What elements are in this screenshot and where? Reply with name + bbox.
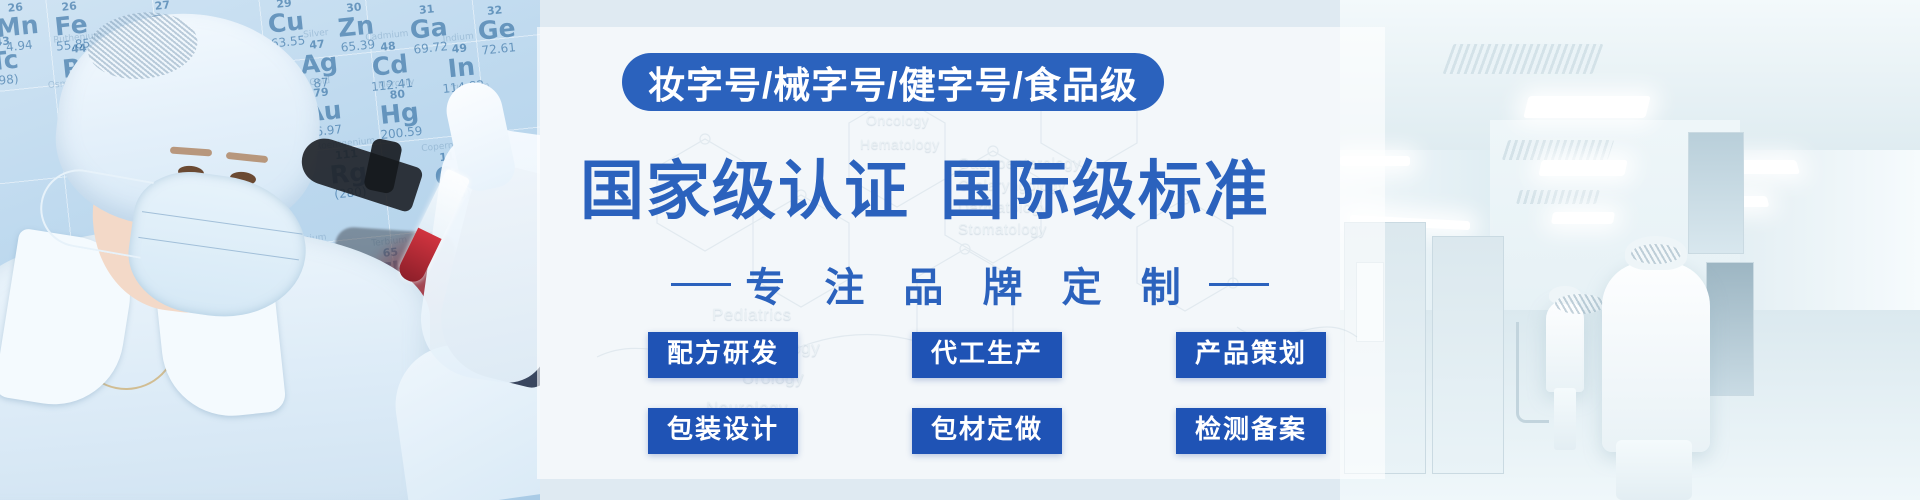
element-weight: (98) [0,72,21,88]
subtitle-text: 专 注 品 牌 定 制 [745,255,1195,313]
periodic-element-cell: 32Ge72.61 [475,3,518,57]
periodic-element-cell: Mercury80Hg200.59 [375,78,423,142]
service-button[interactable]: 配方研发 [648,332,798,378]
ceiling-vent-2 [1502,140,1614,160]
service-button-row-1: 配方研发代工生产产品策划 [648,332,1326,378]
service-button[interactable]: 包装设计 [648,408,798,454]
service-button[interactable]: 代工生产 [912,332,1062,378]
service-button-row-2: 包装设计包材定做检测备案 [648,408,1326,454]
worker-far [1546,300,1584,392]
ceiling-light-2 [1538,160,1627,176]
door-back [1706,262,1754,396]
ceiling-vent-3 [1516,190,1600,204]
left-photo-lab-scientist: 26Mn4.9426Fe55.8527Co29Cu63.5530Zn65.393… [0,0,540,500]
door-left-2 [1432,236,1504,474]
headline-left: 国家级认证 [580,155,910,227]
headline-right: 国际级标准 [940,155,1270,227]
window-back [1688,132,1744,254]
service-button[interactable]: 包材定做 [912,408,1062,454]
ceiling-light-3 [1551,212,1615,224]
worker-near [1602,262,1710,452]
worker-near-legs [1616,440,1692,500]
decorative-dash-left [671,283,731,286]
subtitle-row: 专 注 品 牌 定 制 [645,256,1295,312]
right-photo-cleanroom [1340,0,1920,500]
worker-far-cap [1549,286,1581,304]
service-button[interactable]: 检测备案 [1176,408,1326,454]
decorative-dash-right [1209,283,1269,286]
pallet-jack [1516,322,1549,423]
certification-badge: 妆字号/械字号/健字号/食品级 [622,53,1164,111]
promo-banner: 26Mn4.9426Fe55.8527Co29Cu63.5530Zn65.393… [0,0,1920,500]
service-button[interactable]: 产品策划 [1176,332,1326,378]
ceiling-vent-1 [1443,44,1604,74]
worker-far-legs [1554,388,1576,450]
worker-near-cap [1625,236,1687,270]
page-title: 国家级认证国际级标准 [580,140,1340,232]
ceiling-light-1 [1523,96,1650,118]
